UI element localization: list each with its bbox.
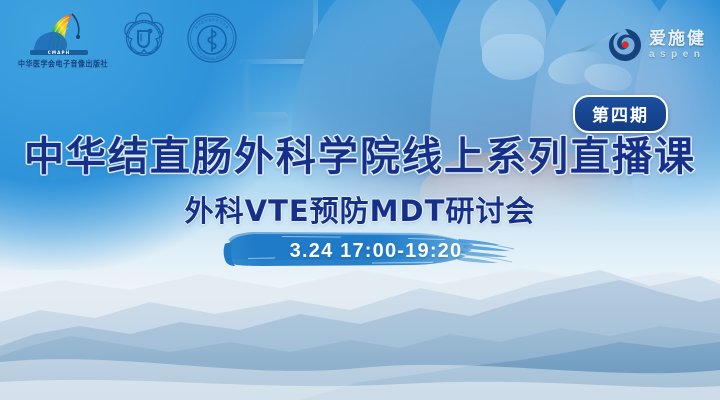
medical-association-seal: 中华医学会外科学分会 CHINESE MEDICAL ASSOCIATION bbox=[184, 10, 240, 66]
sponsor-name-cn: 爱施健 bbox=[649, 30, 706, 47]
schedule-text: 3.24 17:00-19:20 bbox=[222, 226, 522, 276]
page-subtitle: 外科VTE预防MDT研讨会 bbox=[185, 188, 536, 230]
schedule-brush-banner: 3.24 17:00-19:20 bbox=[222, 226, 522, 276]
svg-text:中华医学会结直肠外科学院: 中华医学会结直肠外科学院 bbox=[126, 19, 163, 35]
publisher-logo: CMAPH 中华医学会电子音像出版社 bbox=[18, 10, 104, 76]
svg-text:CMAPH: CMAPH bbox=[48, 50, 71, 55]
aspen-spiral-icon bbox=[608, 28, 642, 62]
logo-group: CMAPH 中华医学会电子音像出版社 bbox=[18, 10, 240, 76]
page-title: 中华结直肠外科学院线上系列直播课 bbox=[24, 124, 696, 182]
sponsor-logo: 爱施健 aspen bbox=[608, 28, 706, 62]
colorectal-society-seal: 中华医学会结直肠外科学院 COLORECTAL SURGERY bbox=[116, 10, 172, 66]
cmaph-mark-icon: CMAPH bbox=[18, 10, 104, 58]
sponsor-wordmark: 爱施健 aspen bbox=[649, 30, 706, 60]
poster-canvas: CMAPH 中华医学会电子音像出版社 bbox=[0, 0, 720, 400]
publisher-name-cn: 中华医学会电子音像出版社 bbox=[18, 58, 104, 70]
sponsor-name-en: aspen bbox=[649, 50, 706, 60]
